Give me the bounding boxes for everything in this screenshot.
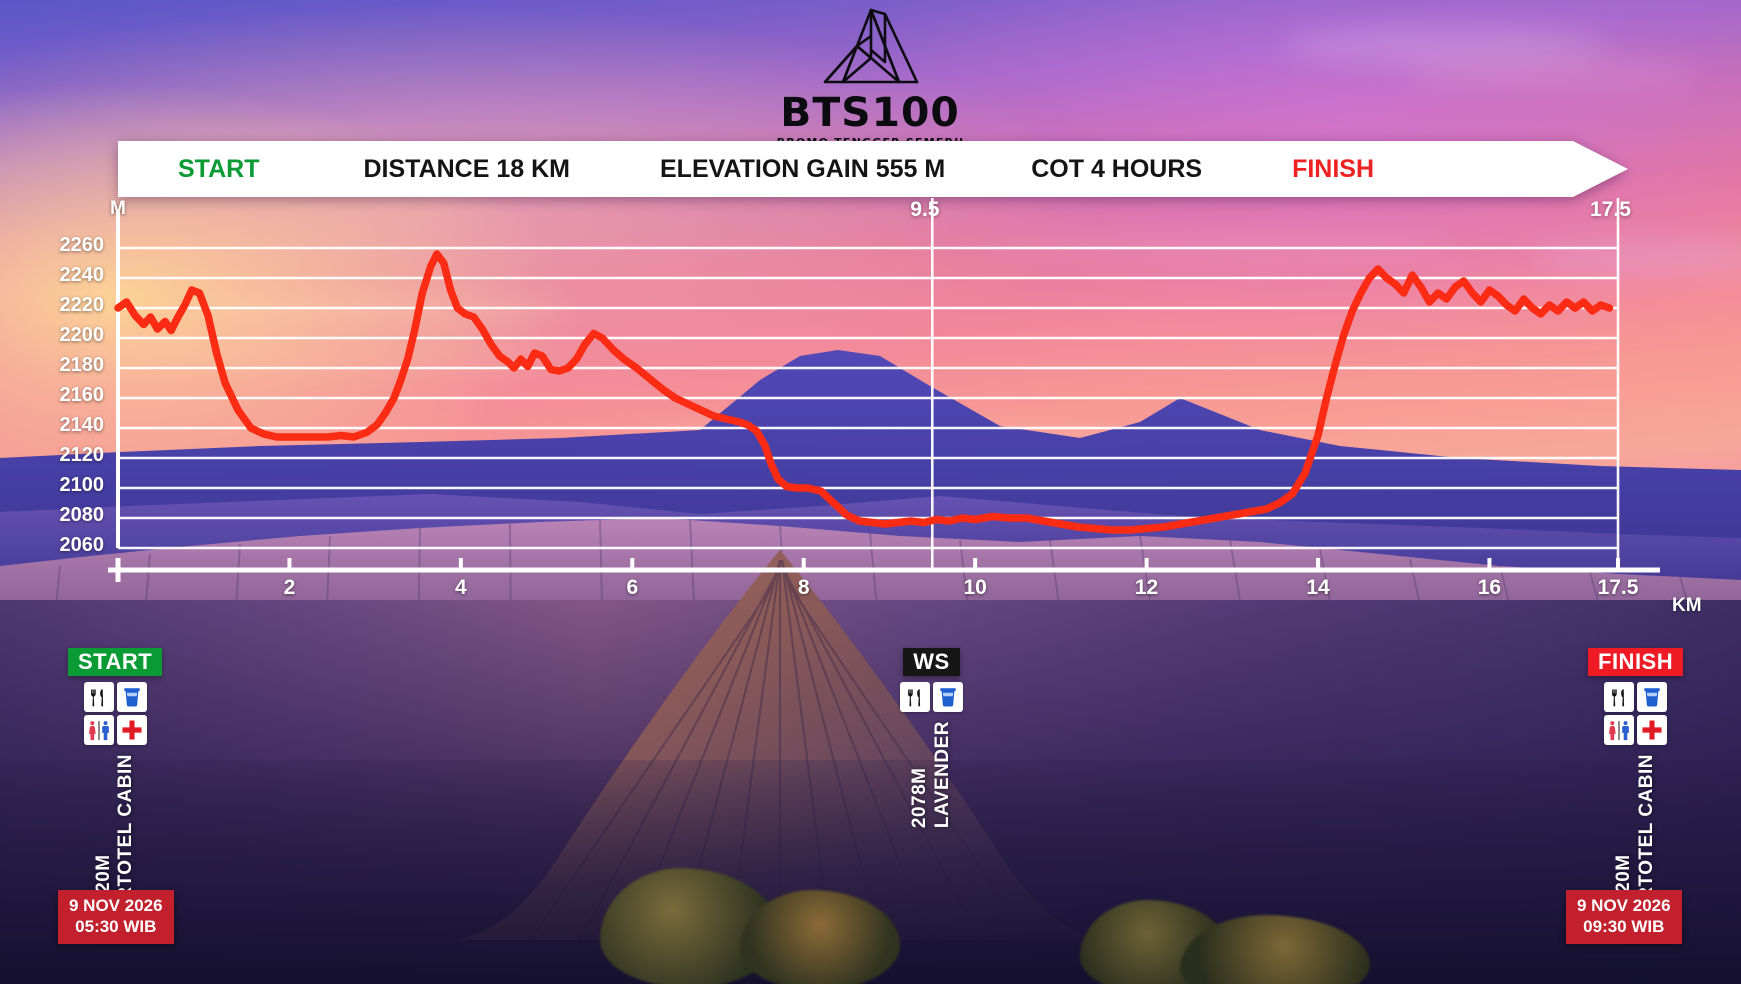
x-axis-tick-label: 16: [1478, 576, 1501, 600]
y-axis-tick-label: 2220: [0, 294, 104, 317]
y-axis-tick-label: 2080: [0, 504, 104, 527]
ws-badge: WS: [903, 648, 959, 676]
y-axis-tick-label: 2240: [0, 264, 104, 287]
banner-arrow-tip: [1573, 141, 1628, 197]
y-axis-tick-label: 2180: [0, 354, 104, 377]
medical-icon: [1637, 715, 1667, 745]
finish-clock: 09:30 WIB: [1577, 917, 1671, 938]
elevation-chart: [118, 232, 1618, 610]
top-marker-9-5: 9.5: [910, 198, 939, 222]
checkpoint-finish[interactable]: FINISH: [1588, 648, 1683, 915]
y-axis-tick-label: 2120: [0, 444, 104, 467]
ws-facility-icons: [900, 682, 963, 712]
food-icon: [1604, 682, 1634, 712]
ws-checkpoint-name: LAVENDER: [932, 721, 954, 828]
x-axis-tick-label: 6: [626, 576, 638, 600]
start-facility-icons: [84, 682, 147, 745]
y-axis-tick-label: 2200: [0, 324, 104, 347]
start-clock: 05:30 WIB: [69, 917, 163, 938]
banner-cot-label: COT 4 HOURS: [1031, 155, 1202, 184]
mountain-outline-icon: [813, 6, 929, 97]
food-icon: [84, 682, 114, 712]
x-axis-tick-label: 4: [455, 576, 467, 600]
x-axis-tick-label: 2: [284, 576, 296, 600]
y-axis-tick-label: 2160: [0, 384, 104, 407]
event-logo: BTS100 BROMO TENGGER SEMERU: [0, 6, 1741, 149]
medical-icon: [117, 715, 147, 745]
start-badge: START: [68, 648, 162, 676]
y-axis-tick-label: 2260: [0, 234, 104, 257]
drink-icon: [117, 682, 147, 712]
drink-icon: [1637, 682, 1667, 712]
banner-finish-label: FINISH: [1292, 155, 1374, 184]
x-axis-unit: KM: [1672, 595, 1702, 617]
finish-time-badge: 9 NOV 2026 09:30 WIB: [1566, 890, 1682, 944]
x-axis-tick-label: 12: [1135, 576, 1158, 600]
x-axis-tick-label: 17.5: [1598, 576, 1639, 600]
x-axis-tick-label: 14: [1306, 576, 1329, 600]
ws-checkpoint-elevation: 2078M: [909, 721, 931, 828]
banner-start-label: START: [178, 155, 259, 184]
finish-facility-icons: [1604, 682, 1667, 745]
toilet-icon: [84, 715, 114, 745]
banner-elevation-label: ELEVATION GAIN 555 M: [660, 155, 945, 184]
race-summary-banner: START DISTANCE 18 KM ELEVATION GAIN 555 …: [118, 141, 1628, 197]
drink-icon: [933, 682, 963, 712]
y-axis-tick-label: 2060: [0, 534, 104, 557]
start-date: 9 NOV 2026: [69, 896, 163, 917]
start-time-badge: 9 NOV 2026 05:30 WIB: [58, 890, 174, 944]
checkpoint-ws[interactable]: WS LAVENDER 2078M: [900, 648, 963, 828]
top-marker-17-5: 17.5: [1590, 198, 1631, 222]
toilet-icon: [1604, 715, 1634, 745]
finish-date: 9 NOV 2026: [1577, 896, 1671, 917]
x-axis-tick-label: 10: [963, 576, 986, 600]
y-axis-tick-label: 2140: [0, 414, 104, 437]
y-axis-tick-label: 2100: [0, 474, 104, 497]
x-axis-tick-label: 8: [798, 576, 810, 600]
checkpoint-start[interactable]: START: [68, 648, 162, 915]
banner-distance-label: DISTANCE 18 KM: [363, 155, 570, 184]
food-icon: [900, 682, 930, 712]
logo-wordmark: BTS100: [781, 93, 961, 133]
elevation-profile-poster: BTS100 BROMO TENGGER SEMERU START DISTAN…: [0, 0, 1741, 984]
finish-badge: FINISH: [1588, 648, 1683, 676]
